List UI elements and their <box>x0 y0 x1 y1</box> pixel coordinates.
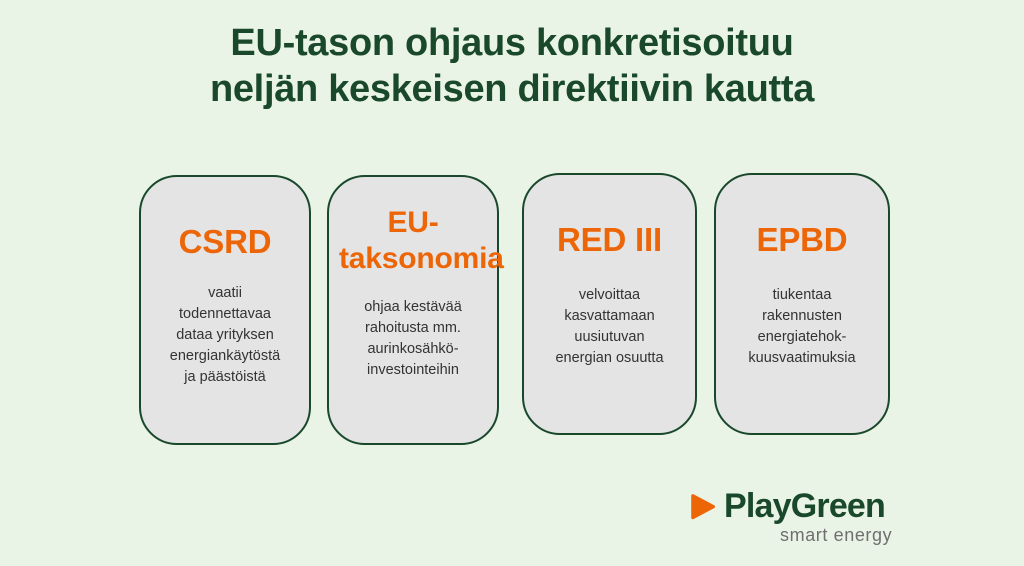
card-body: tiukentaa rakennusten energiatehok- kuus… <box>726 285 878 369</box>
directive-card-eu-taksonomia[interactable]: EU- taksonomia ohjaa kestävää rahoitusta… <box>327 175 499 445</box>
card-title: EPBD <box>726 221 878 259</box>
directive-card-row: CSRD vaatii todennettavaa dataa yritykse… <box>139 173 891 445</box>
directive-card-red-iii[interactable]: RED III velvoittaa kasvattamaan uusiutuv… <box>522 173 697 435</box>
card-title: EU- taksonomia <box>339 205 487 277</box>
directive-card-epbd[interactable]: EPBD tiukentaa rakennusten energiatehok-… <box>714 173 890 435</box>
logo-wordmark: PlayGreen <box>724 487 885 525</box>
card-body: vaatii todennettavaa dataa yrityksen ene… <box>151 283 299 388</box>
play-triangle-icon <box>688 494 718 520</box>
card-body: ohjaa kestävää rahoitusta mm. aurinkosäh… <box>339 297 487 381</box>
directive-card-csrd[interactable]: CSRD vaatii todennettavaa dataa yritykse… <box>139 175 311 445</box>
card-body: velvoittaa kasvattamaan uusiutuvan energ… <box>534 285 685 369</box>
page-title: EU-tason ohjaus konkretisoituu neljän ke… <box>0 20 1024 112</box>
card-title: RED III <box>534 221 685 259</box>
card-title: CSRD <box>151 223 299 261</box>
logo-tagline: smart energy <box>780 524 892 546</box>
slide-canvas: EU-tason ohjaus konkretisoituu neljän ke… <box>0 0 1024 566</box>
playgreen-logo: PlayGreen smart energy <box>688 487 908 547</box>
